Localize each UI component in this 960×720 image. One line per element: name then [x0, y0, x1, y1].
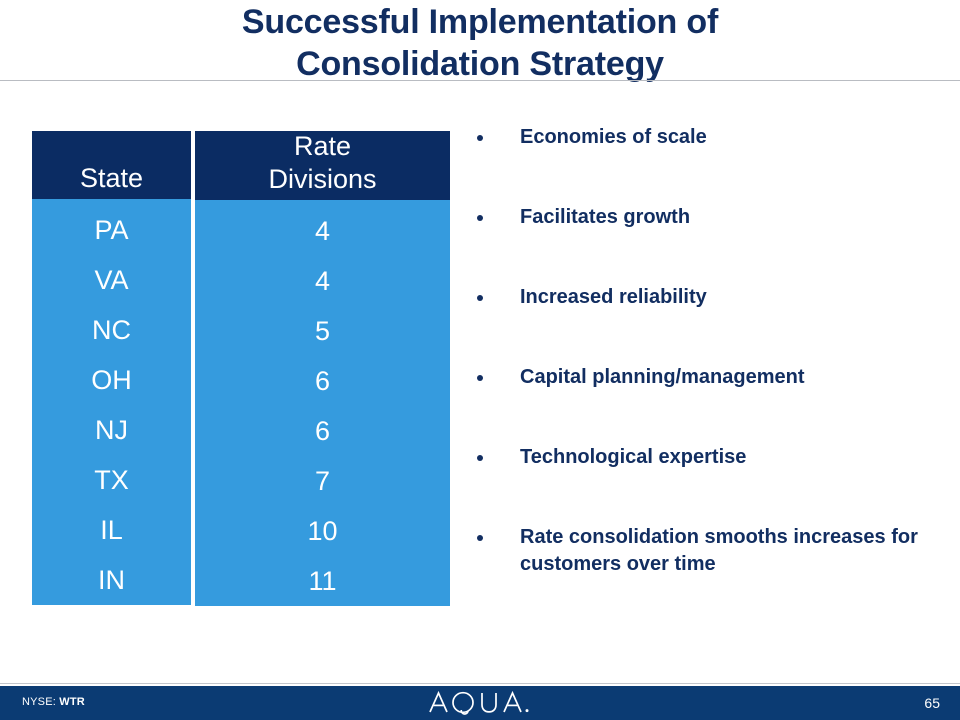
bullet-dot-icon: [477, 455, 483, 461]
bullet-dot-icon: [477, 215, 483, 221]
title-divider: [0, 80, 960, 81]
table-header-rate-divisions-line2: Divisions: [268, 163, 376, 196]
list-item-label: Technological expertise: [520, 446, 746, 468]
list-item: Economies of scale: [466, 124, 944, 151]
bullet-dot-icon: [477, 295, 483, 301]
table-row: 7: [195, 456, 450, 506]
table-header-state: State: [32, 131, 191, 199]
table-row: 11: [195, 556, 450, 606]
table-row: 10: [195, 506, 450, 556]
table-row: NC: [32, 305, 191, 355]
bullet-dot-icon: [477, 535, 483, 541]
table-row: 4: [195, 206, 450, 256]
table-row: TX: [32, 455, 191, 505]
table-header-state-label: State: [80, 162, 143, 195]
list-item-label: Rate consolidation smooths increases for…: [520, 526, 918, 575]
title-line-1: Successful Implementation of: [242, 1, 718, 43]
slide-footer: NYSE: WTR 65: [0, 686, 960, 720]
stock-ticker: NYSE: WTR: [22, 696, 85, 708]
table-column-rate-divisions: Rate Divisions 4 4 5 6 6 7 10 11: [195, 131, 450, 605]
rate-divisions-table: State PA VA NC OH NJ TX IL IN Rate Divis…: [32, 131, 450, 605]
list-item: Increased reliability: [466, 284, 944, 311]
table-body-state: PA VA NC OH NJ TX IL IN: [32, 199, 191, 605]
table-row: PA: [32, 205, 191, 255]
table-row: VA: [32, 255, 191, 305]
slide-title: Successful Implementation of Consolidati…: [0, 0, 960, 80]
bullet-dot-icon: [477, 135, 483, 141]
ticker-symbol: WTR: [59, 696, 85, 708]
title-line-2: Consolidation Strategy: [296, 43, 664, 85]
table-row: OH: [32, 355, 191, 405]
table-row: NJ: [32, 405, 191, 455]
table-row: 6: [195, 406, 450, 456]
table-row: IN: [32, 555, 191, 605]
table-row: 4: [195, 256, 450, 306]
list-item: Capital planning/management: [466, 364, 944, 391]
table-header-rate-divisions-line1: Rate: [294, 130, 351, 163]
aqua-logo: [0, 686, 960, 720]
slide: Successful Implementation of Consolidati…: [0, 0, 960, 720]
list-item-label: Facilitates growth: [520, 206, 690, 228]
footer-divider: [0, 683, 960, 684]
list-item: Technological expertise: [466, 444, 944, 471]
table-column-state: State PA VA NC OH NJ TX IL IN: [32, 131, 191, 605]
table-body-rate-divisions: 4 4 5 6 6 7 10 11: [195, 200, 450, 606]
list-item-label: Economies of scale: [520, 126, 707, 148]
exchange-label: NYSE:: [22, 696, 56, 708]
table-row: 5: [195, 306, 450, 356]
table-header-rate-divisions: Rate Divisions: [195, 131, 450, 200]
table-row: 6: [195, 356, 450, 406]
list-item-label: Increased reliability: [520, 286, 707, 308]
list-item: Rate consolidation smooths increases for…: [466, 524, 944, 578]
list-item: Facilitates growth: [466, 204, 944, 231]
page-number: 65: [924, 695, 940, 711]
list-item-label: Capital planning/management: [520, 366, 804, 388]
benefits-bullet-list: Economies of scale Facilitates growth In…: [466, 124, 944, 578]
bullet-dot-icon: [477, 375, 483, 381]
table-row: IL: [32, 505, 191, 555]
